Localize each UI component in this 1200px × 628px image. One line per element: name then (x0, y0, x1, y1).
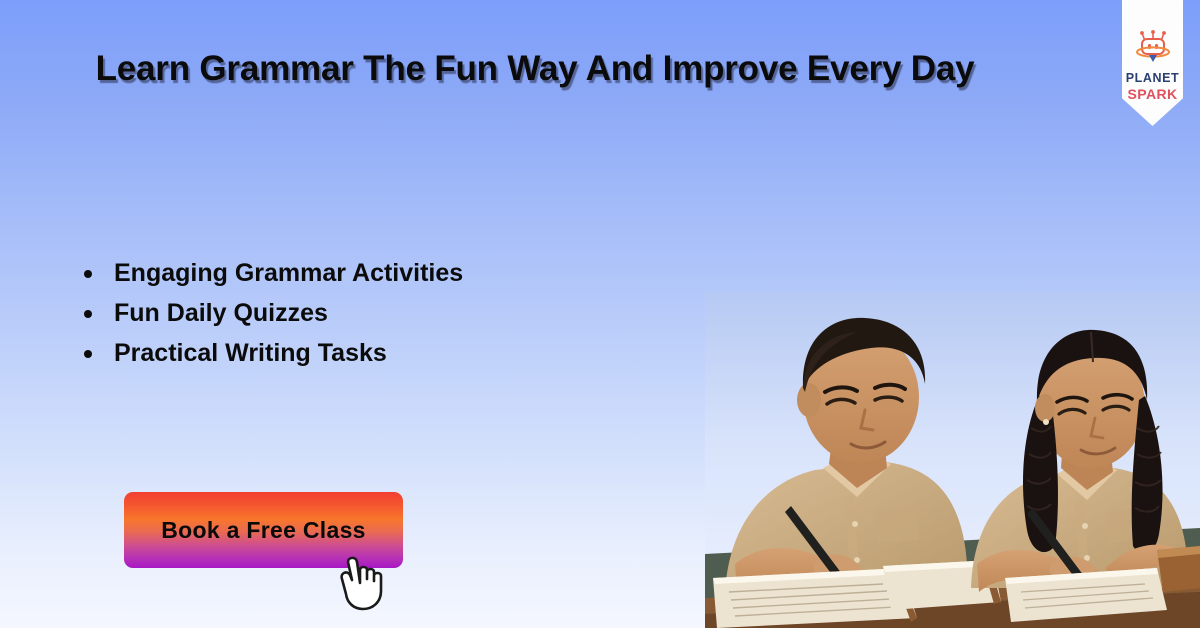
bullet-dot-icon (84, 310, 92, 318)
list-item: Practical Writing Tasks (84, 333, 463, 373)
feature-label: Engaging Grammar Activities (114, 259, 463, 287)
bullet-dot-icon (84, 270, 92, 278)
list-item: Fun Daily Quizzes (84, 293, 463, 333)
students-illustration (705, 292, 1200, 628)
logo-word-planet: PLANET (1122, 71, 1183, 85)
students-writing-photo (705, 292, 1200, 628)
logo-word-spark: SPARK (1122, 86, 1183, 102)
bullet-dot-icon (84, 350, 92, 358)
page-title: Learn Grammar The Fun Way And Improve Ev… (60, 44, 1010, 94)
feature-label: Practical Writing Tasks (114, 339, 387, 367)
feature-list: Engaging Grammar Activities Fun Daily Qu… (84, 253, 463, 373)
planetspark-logo[interactable]: PLANET SPARK (1122, 0, 1183, 126)
planetspark-robot-icon (1122, 30, 1183, 69)
list-item: Engaging Grammar Activities (84, 253, 463, 293)
book-free-class-button[interactable]: Book a Free Class (124, 492, 403, 568)
cta-container: Book a Free Class (124, 492, 403, 568)
feature-label: Fun Daily Quizzes (114, 299, 328, 327)
promo-banner: Learn Grammar The Fun Way And Improve Ev… (0, 0, 1200, 628)
